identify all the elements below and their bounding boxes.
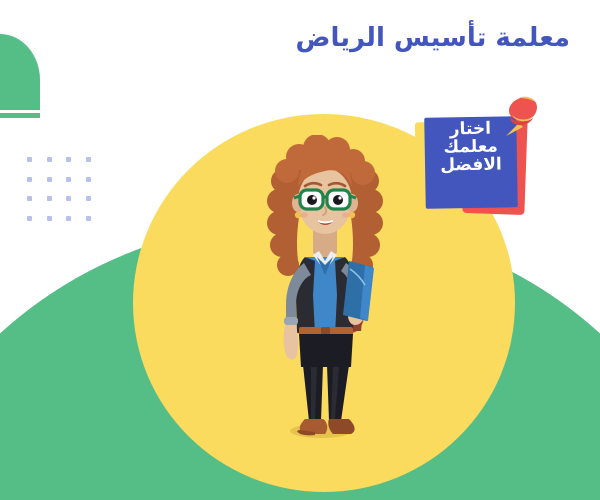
grid-dot [86,157,91,162]
dot-grid-decoration [27,157,105,235]
grid-dot [47,157,52,162]
poster-canvas: معلمة تأسيس الرياض [0,0,600,500]
green-arch-decoration [0,34,40,110]
grid-dot [47,196,52,201]
grid-dot [66,177,71,182]
grid-dot [66,157,71,162]
grid-dot [47,177,52,182]
grid-dot [86,216,91,221]
grid-dot [66,196,71,201]
badge[interactable]: اختار معلمك الافضل [414,92,540,222]
pushpin-icon [497,92,543,146]
grid-dot [86,177,91,182]
page-title: معلمة تأسيس الرياض [150,22,570,55]
grid-dot [27,177,32,182]
badge-line-3: الافضل [425,156,517,176]
grid-dot [47,216,52,221]
grid-dot [27,216,32,221]
teacher-illustration [255,135,395,455]
grid-dot [86,196,91,201]
grid-dot [27,196,32,201]
green-bar-decoration [0,113,40,118]
grid-dot [27,157,32,162]
grid-dot [66,216,71,221]
